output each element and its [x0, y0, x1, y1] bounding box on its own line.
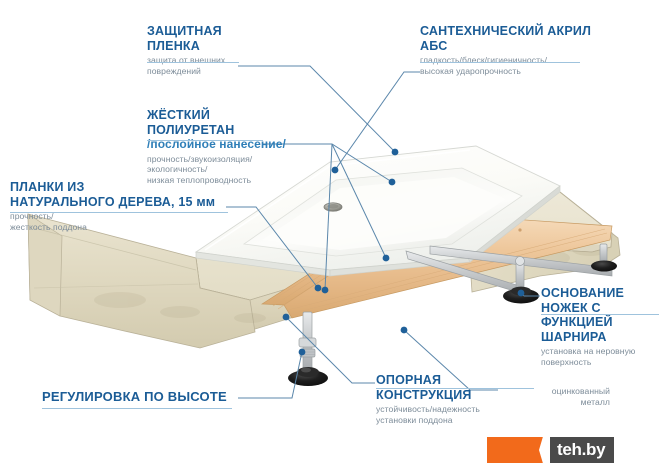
callout-title-protective-film: ЗАЩИТНАЯ ПЛЕНКА: [147, 24, 257, 53]
rule-natural-wood-planks: [10, 212, 228, 213]
callout-natural-wood-planks: ПЛАНКИ ИЗ НАТУРАЛЬНОГО ДЕРЕВА, 15 мм про…: [10, 180, 240, 232]
callout-protective-film: ЗАЩИТНАЯ ПЛЕНКА защита от внешних повреж…: [147, 24, 257, 76]
callout-desc-galvanized-metal: оцинкованный металл: [498, 386, 610, 407]
callout-desc-natural-wood-planks: прочность/ жесткость поддона: [10, 211, 240, 232]
callout-title-height-adjustment: РЕГУЛИРОВКА ПО ВЫСОТЕ: [42, 390, 242, 405]
callout-title-rigid-polyurethane: ЖЁСТКИЙ ПОЛИУРЕТАН: [147, 108, 297, 137]
rule-protective-film: [147, 62, 239, 63]
callout-desc-protective-film: защита от внешних повреждений: [147, 55, 257, 76]
callout-title-natural-wood-planks: ПЛАНКИ ИЗ НАТУРАЛЬНОГО ДЕРЕВА, 15 мм: [10, 180, 240, 209]
rule-rigid-polyurethane: [147, 140, 263, 141]
callout-rigid-polyurethane: ЖЁСТКИЙ ПОЛИУРЕТАН /послойное нанесение/…: [147, 108, 297, 185]
rule-hinged-foot-base: [541, 314, 659, 315]
rule-height-adjustment: [42, 408, 232, 409]
watermark-logo: teh.by: [487, 437, 614, 463]
rule-sanitary-acrylic-abs: [420, 62, 580, 63]
callout-sanitary-acrylic-abs: САНТЕХНИЧЕСКИЙ АКРИЛ АБС гладкость/блеск…: [420, 24, 610, 76]
callout-galvanized-metal: оцинкованный металл: [498, 386, 610, 407]
callout-title-sanitary-acrylic-abs: САНТЕХНИЧЕСКИЙ АКРИЛ АБС: [420, 24, 610, 53]
diagram-page: ЗАЩИТНАЯ ПЛЕНКА защита от внешних повреж…: [0, 0, 670, 471]
callout-hinged-foot-base: ОСНОВАНИЕ НОЖЕК С ФУНКЦИЕЙ ШАРНИРА устан…: [541, 286, 666, 367]
callout-desc-sanitary-acrylic-abs: гладкость/блеск/гигиеничность/ высокая у…: [420, 55, 610, 76]
leg-foot-far-right: [591, 261, 617, 272]
watermark-orange-block: [487, 437, 547, 463]
callout-height-adjustment: РЕГУЛИРОВКА ПО ВЫСОТЕ: [42, 390, 242, 405]
callout-desc-hinged-foot-base: установка на неровную поверхность: [541, 346, 666, 367]
callout-title-hinged-foot-base: ОСНОВАНИЕ НОЖЕК С ФУНКЦИЕЙ ШАРНИРА: [541, 286, 666, 344]
watermark-text: teh.by: [547, 437, 614, 463]
